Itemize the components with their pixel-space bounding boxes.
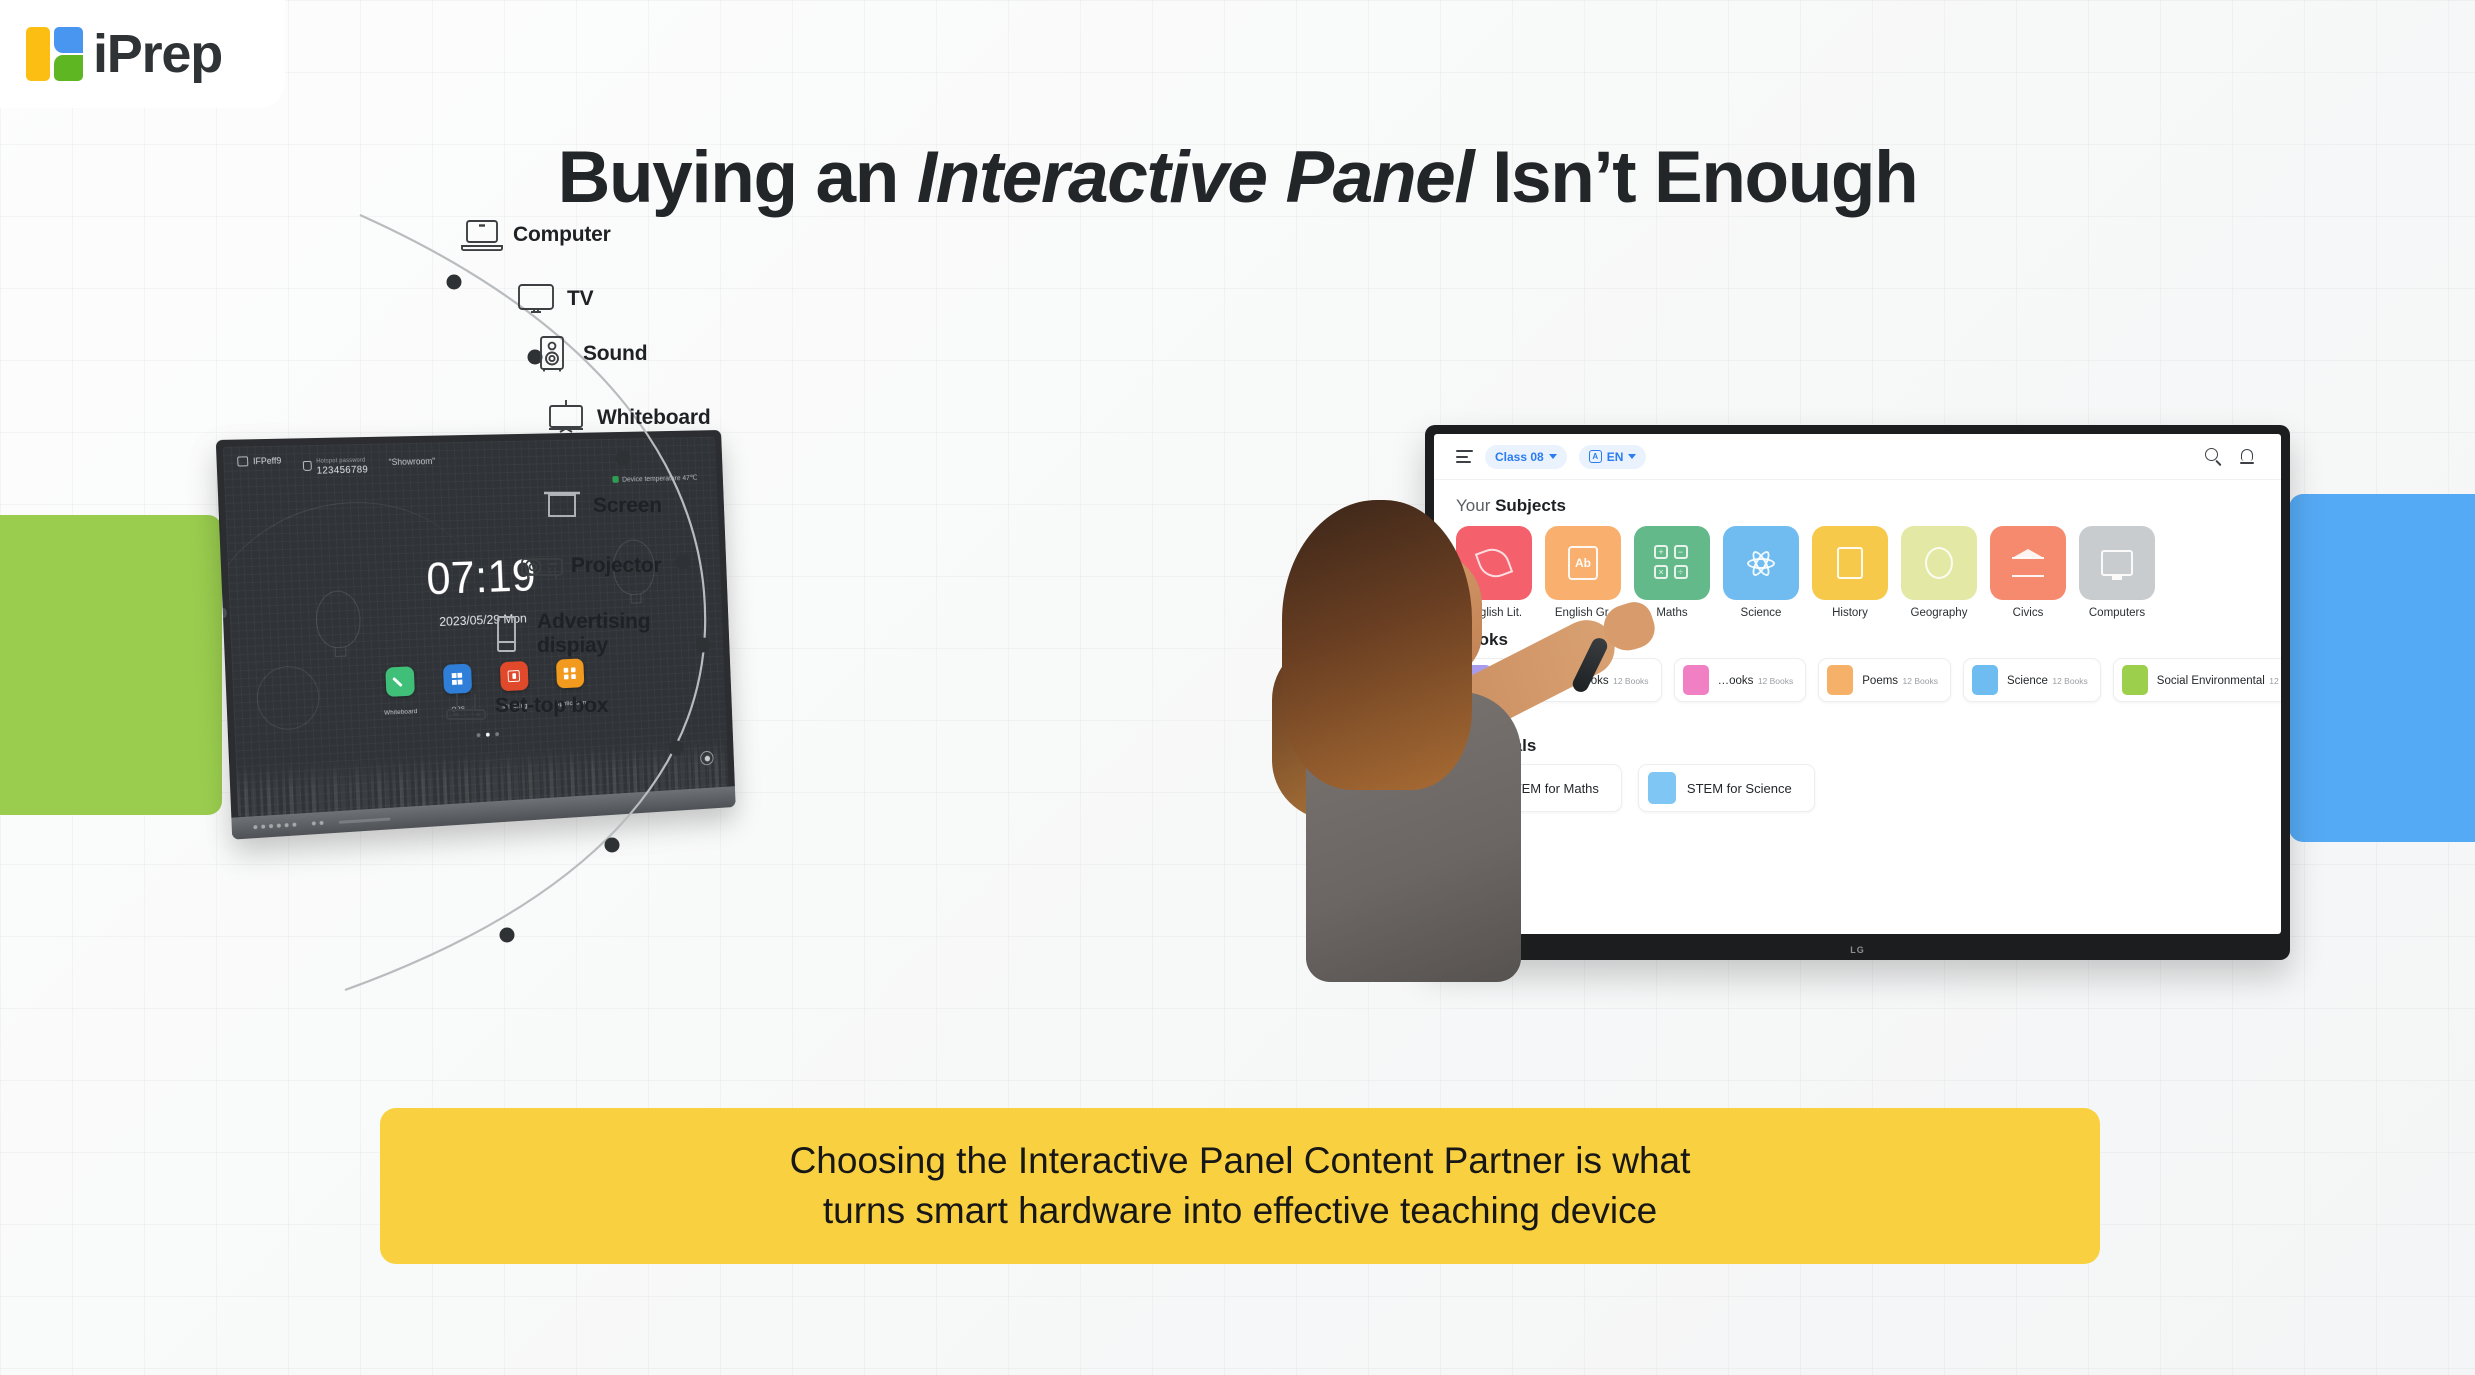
- notification-bell-icon[interactable]: [2237, 446, 2259, 468]
- practical-label: STEM for Science: [1687, 781, 1792, 796]
- page-title: Buying an Interactive Panel Isn’t Enough: [0, 136, 2475, 219]
- panel-device-name-chip: IFPeff9: [237, 456, 281, 467]
- class-selector[interactable]: Class 08: [1485, 445, 1567, 469]
- tv-icon: [514, 279, 556, 319]
- book-name: Science: [2007, 675, 2048, 687]
- speaker-icon: [530, 334, 572, 374]
- panel-hotspot-password: 123456789: [316, 464, 368, 476]
- book-count: 12 Books: [2052, 676, 2087, 686]
- panel-room-name: “Showroom”: [389, 456, 436, 467]
- diagram-node-computer: Computer: [460, 215, 611, 255]
- subject-label: Computers: [2079, 607, 2155, 619]
- diagram-label: TV: [567, 287, 593, 311]
- translate-icon: A: [1589, 450, 1602, 463]
- subject-label: History: [1812, 607, 1888, 619]
- book-count: 12 Books: [1903, 676, 1938, 686]
- book-name: …ooks: [1718, 675, 1754, 687]
- diagram-node-sound: Sound: [530, 334, 647, 374]
- diagram-label: Sound: [583, 342, 647, 366]
- diagram-label: Projector: [571, 554, 661, 578]
- diagram-label: Computer: [513, 223, 611, 247]
- panel-app-whiteboard[interactable]: Whiteboard: [378, 666, 422, 720]
- teacher-photo: [1270, 490, 1630, 970]
- subject-tile-computers[interactable]: Computers: [2079, 526, 2155, 619]
- subject-tile-civics[interactable]: Civics: [1990, 526, 2066, 619]
- projector-icon: [518, 546, 560, 586]
- slide-canvas: iPrep Buying an Interactive Panel Isn’t …: [0, 0, 2475, 1375]
- display-icon: [237, 456, 248, 466]
- book-count: 12 Books: [2269, 676, 2281, 686]
- search-icon[interactable]: [2203, 446, 2225, 468]
- diagram-label: Whiteboard: [597, 406, 711, 430]
- whiteboard-icon: [544, 398, 586, 438]
- book-name: Social Environmental: [2157, 675, 2265, 687]
- connectivity-diagram: Computer TV Sou: [500, 300, 1260, 1020]
- book-card[interactable]: …ooks 12 Books: [1674, 658, 1807, 702]
- book-icon: [1683, 665, 1709, 695]
- caption-line-1: Choosing the Interactive Panel Content P…: [790, 1136, 1691, 1186]
- teacher-demo-scene: Class 08 A EN Your Subjects: [1270, 410, 2450, 970]
- diagram-node-screen: Screen: [540, 486, 662, 526]
- book-icon: [1827, 665, 1853, 695]
- app-topbar: Class 08 A EN: [1434, 434, 2281, 480]
- screen-icon: [540, 486, 582, 526]
- subject-tile-geography[interactable]: Geography: [1901, 526, 1977, 619]
- subject-tile-history[interactable]: History: [1812, 526, 1888, 619]
- caption-line-2: turns smart hardware into effective teac…: [823, 1186, 1657, 1236]
- advertising-display-icon: [484, 614, 526, 654]
- subject-label: Science: [1723, 607, 1799, 619]
- book-count: 12 Books: [1758, 676, 1793, 686]
- subject-tile-science[interactable]: Science: [1723, 526, 1799, 619]
- panel-device-name: IFPeff9: [253, 456, 282, 467]
- teacher-hair: [1282, 500, 1472, 790]
- panel-indicator-lights: [312, 821, 324, 826]
- diagram-node-whiteboard: Whiteboard: [544, 398, 711, 438]
- book-card[interactable]: Science 12 Books: [1963, 658, 2101, 702]
- atom-icon: [1723, 526, 1799, 600]
- title-part-after: Isn’t Enough: [1473, 137, 1917, 218]
- book-name: Poems: [1862, 675, 1898, 687]
- display-brand-logo: LG: [1850, 945, 1865, 955]
- subject-label: Geography: [1901, 607, 1977, 619]
- brand-name: iPrep: [93, 23, 222, 85]
- title-emphasis: Interactive Panel: [917, 137, 1473, 218]
- book-icon: [1972, 665, 1998, 695]
- chevron-down-icon: [1628, 454, 1636, 459]
- practical-card-stem-science[interactable]: STEM for Science: [1638, 764, 1815, 812]
- set-top-box-icon: [442, 686, 484, 726]
- panel-side-button-bottom[interactable]: [224, 730, 230, 764]
- panel-hotspot-chip: Hotspot password 123456789: [302, 454, 368, 478]
- stem-icon: [1648, 772, 1676, 804]
- bank-icon: [1990, 526, 2066, 600]
- class-selector-label: Class 08: [1495, 450, 1544, 464]
- diagram-node-set-top-box: Set-top box: [442, 686, 608, 726]
- language-selector[interactable]: A EN: [1579, 445, 1647, 469]
- pencil-icon: [385, 666, 415, 697]
- lock-icon: [303, 461, 312, 471]
- hamburger-icon[interactable]: [1456, 450, 1473, 462]
- laptop-icon: [460, 215, 502, 255]
- diagram-label: Set-top box: [495, 694, 608, 718]
- caption-banner: Choosing the Interactive Panel Content P…: [380, 1108, 2100, 1264]
- brand-logo: iPrep: [0, 0, 285, 108]
- diagram-node-tv: TV: [514, 279, 593, 319]
- decor-block-green: [0, 515, 222, 815]
- chevron-down-icon: [1549, 454, 1557, 459]
- scroll-icon: [1812, 526, 1888, 600]
- diagram-node-projector: Projector: [518, 546, 661, 586]
- book-icon: [2122, 665, 2148, 695]
- iprep-logo-icon: [26, 25, 84, 83]
- language-selector-label: EN: [1607, 450, 1624, 464]
- globe-icon: [1901, 526, 1977, 600]
- diagram-label: Advertising dispiay: [537, 610, 650, 657]
- title-part-before: Buying an: [558, 137, 917, 218]
- diagram-label: Screen: [593, 494, 662, 518]
- calculator-icon: +−×÷: [1634, 526, 1710, 600]
- panel-speaker-grille: [339, 817, 391, 823]
- subject-label: Civics: [1990, 607, 2066, 619]
- book-card[interactable]: Poems 12 Books: [1818, 658, 1951, 702]
- panel-ports: [253, 823, 296, 830]
- diagram-node-advertising-display: Advertising dispiay: [484, 610, 650, 657]
- book-card[interactable]: Social Environmental 12 Books: [2113, 658, 2281, 702]
- monitor-icon: [2079, 526, 2155, 600]
- panel-app-label: Whiteboard: [384, 708, 418, 717]
